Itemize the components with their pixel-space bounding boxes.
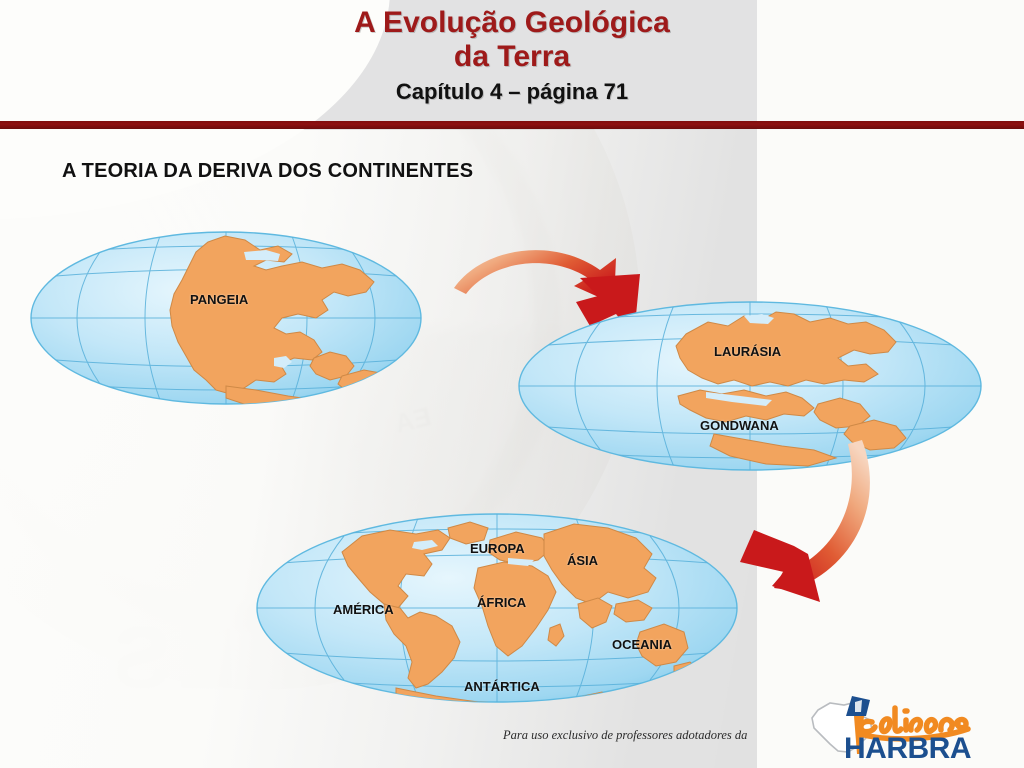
label-pangeia: PANGEIA [190, 292, 248, 307]
slide-subtitle: Capítulo 4 – página 71 [0, 79, 1024, 105]
slide-title-line2: da Terra [0, 40, 1024, 74]
label-gondwana: GONDWANA [700, 418, 779, 433]
footer-usage-note: Para uso exclusivo de professores adotad… [503, 728, 747, 743]
label-europa: EUROPA [470, 541, 525, 556]
title-block: A Evolução Geológica da Terra Capítulo 4… [0, 6, 1024, 105]
label-laurasia: LAURÁSIA [714, 344, 781, 359]
logo-brand-word: HARBRA [844, 732, 971, 762]
label-america: AMÉRICA [333, 602, 394, 617]
label-asia: ÁSIA [567, 553, 598, 568]
slide-header: A Evolução Geológica da Terra Capítulo 4… [0, 0, 1024, 122]
torch-flame-highlight [855, 700, 862, 712]
publisher-logo-harbra: HARBRA [800, 694, 1018, 762]
label-oceania: OCEANIA [612, 637, 672, 652]
slide-title-line1: A Evolução Geológica [0, 6, 1024, 40]
section-heading: A TEORIA DA DERIVA DOS CONTINENTES [62, 160, 473, 183]
slide-canvas: ES EA A Evolução Geológica da Terra Capí… [0, 0, 1024, 768]
header-divider-rule [0, 121, 1024, 129]
arrow-head [740, 530, 820, 602]
label-antartica: ANTÁRTICA [464, 679, 540, 694]
arrow-laurasia-to-modern [732, 436, 884, 614]
slide-title: A Evolução Geológica da Terra [0, 6, 1024, 74]
label-africa: ÁFRICA [477, 595, 526, 610]
globe-pangeia [30, 230, 422, 406]
arrow-body [454, 250, 616, 304]
